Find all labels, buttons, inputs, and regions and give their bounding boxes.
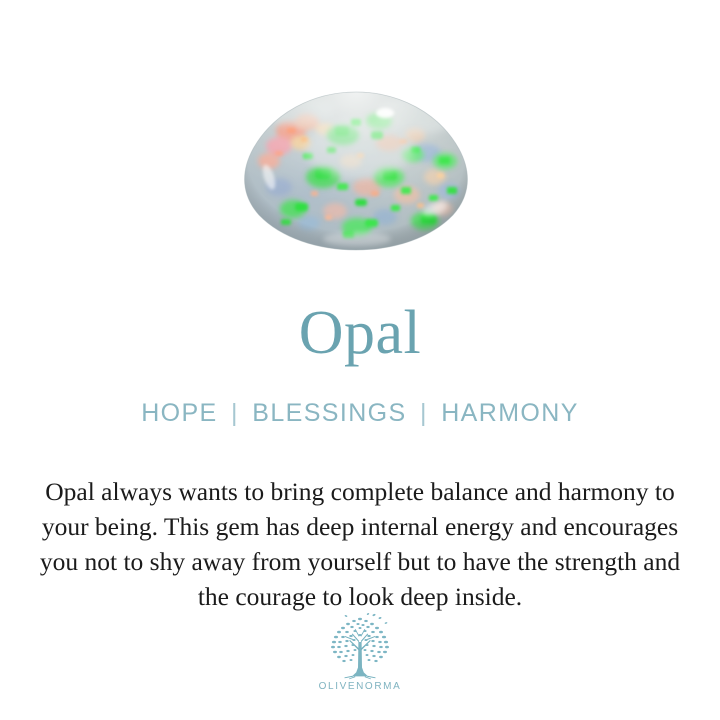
keyword-line: HOPE | BLESSINGS | HARMONY	[0, 398, 720, 428]
keyword-separator: |	[415, 399, 433, 427]
keyword-hope: HOPE	[141, 399, 217, 427]
description-text: Opal always wants to bring complete bala…	[22, 474, 698, 614]
keyword-harmony: HARMONY	[441, 399, 579, 427]
brand-name: OLIVENORMA	[319, 681, 402, 692]
opal-cabochon-icon	[239, 91, 473, 251]
keyword-separator: |	[226, 399, 244, 427]
olive-tree-icon	[322, 612, 398, 680]
page-title: Opal	[0, 298, 720, 368]
opal-gemstone-image	[239, 91, 473, 251]
brand-logo: OLIVENORMA	[0, 612, 720, 692]
gemstone-info-card: Opal HOPE | BLESSINGS | HARMONY Opal alw…	[0, 0, 720, 720]
keyword-blessings: BLESSINGS	[252, 399, 406, 427]
